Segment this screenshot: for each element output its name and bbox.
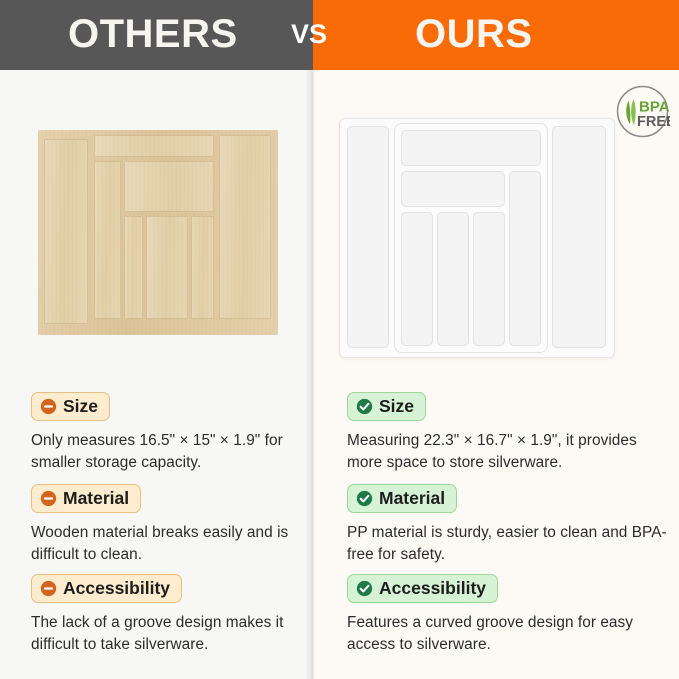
wood-grain-texture <box>146 216 188 319</box>
others-feature-accessibility: Accessibility The lack of a groove desig… <box>31 574 303 656</box>
header-ours-panel: OURS <box>313 0 679 70</box>
free-text: FREE <box>637 114 670 130</box>
others-material-badge-label: Material <box>63 488 129 508</box>
bpa-text: BPA <box>639 99 670 116</box>
others-size-badge-label: Size <box>63 396 98 416</box>
wood-compartment-slot-1 <box>124 216 143 319</box>
pp-compartment-left-wing <box>347 126 389 348</box>
pp-compartment-slot-2 <box>437 212 469 346</box>
wood-grain-texture <box>124 161 214 212</box>
vs-label: VS <box>291 0 327 70</box>
ours-feature-material: Material PP material is sturdy, easier t… <box>347 484 667 566</box>
minus-circle-icon <box>40 580 57 597</box>
ours-size-badge-label: Size <box>379 396 414 416</box>
comparison-body: Size Only measures 16.5" × 15" × 1.9" fo… <box>0 70 679 679</box>
leaf-icon <box>626 99 635 125</box>
ours-material-description: PP material is sturdy, easier to clean a… <box>347 522 667 566</box>
wood-compartment-top <box>94 135 214 157</box>
bpa-free-badge: BPA FREE <box>615 84 670 139</box>
wood-compartment-left-wing <box>44 139 88 324</box>
wood-grain-texture <box>219 135 271 319</box>
wood-compartment-slot-2 <box>146 216 188 319</box>
pp-organizer-image <box>339 118 615 358</box>
others-accessibility-badge: Accessibility <box>31 574 182 603</box>
wood-grain-texture <box>124 216 143 319</box>
others-size-badge: Size <box>31 392 110 421</box>
pp-compartment-top <box>401 130 541 166</box>
others-accessibility-badge-label: Accessibility <box>63 578 170 598</box>
check-circle-icon <box>356 398 373 415</box>
comparison-infographic: OTHERS OURS VS <box>0 0 679 679</box>
ours-accessibility-description: Features a curved groove design for easy… <box>347 612 667 656</box>
others-column: Size Only measures 16.5" × 15" × 1.9" fo… <box>0 70 313 679</box>
others-material-description: Wooden material breaks easily and is dif… <box>31 522 303 566</box>
minus-circle-icon <box>40 490 57 507</box>
ours-material-badge: Material <box>347 484 457 513</box>
wood-compartment-tall-left <box>94 161 121 319</box>
pp-compartment-right-tall <box>509 171 541 346</box>
wood-compartment-slot-3 <box>191 216 214 319</box>
ours-accessibility-badge-label: Accessibility <box>379 578 486 598</box>
pp-compartment-slot-1 <box>401 212 433 346</box>
ours-size-badge: Size <box>347 392 426 421</box>
header-others-title: OTHERS <box>68 0 238 70</box>
header-others-panel: OTHERS <box>0 0 313 70</box>
ours-feature-accessibility: Accessibility Features a curved groove d… <box>347 574 667 656</box>
pp-compartment-second <box>401 171 505 207</box>
wooden-organizer-image <box>38 130 278 335</box>
wood-grain-texture <box>44 139 88 324</box>
minus-circle-icon <box>40 398 57 415</box>
check-circle-icon <box>356 490 373 507</box>
others-size-description: Only measures 16.5" × 15" × 1.9" for sma… <box>31 430 303 474</box>
others-material-badge: Material <box>31 484 141 513</box>
ours-column: BPA FREE <box>313 70 679 679</box>
wood-compartment-right-wing <box>219 135 271 319</box>
pp-compartment-slot-3 <box>473 212 505 346</box>
ours-accessibility-badge: Accessibility <box>347 574 498 603</box>
others-accessibility-description: The lack of a groove design makes it dif… <box>31 612 303 656</box>
ours-feature-size: Size Measuring 22.3" × 16.7" × 1.9", it … <box>347 392 667 474</box>
ours-material-badge-label: Material <box>379 488 445 508</box>
others-feature-material: Material Wooden material breaks easily a… <box>31 484 303 566</box>
wood-grain-texture <box>191 216 214 319</box>
wood-grain-texture <box>94 135 214 157</box>
others-feature-size: Size Only measures 16.5" × 15" × 1.9" fo… <box>31 392 303 474</box>
pp-compartment-right-wing <box>552 126 606 348</box>
ours-size-description: Measuring 22.3" × 16.7" × 1.9", it provi… <box>347 430 667 474</box>
check-circle-icon <box>356 580 373 597</box>
header-bar: OTHERS OURS VS <box>0 0 679 70</box>
header-ours-title: OURS <box>415 0 533 70</box>
wood-compartment-second <box>124 161 214 212</box>
wood-grain-texture <box>94 161 121 319</box>
